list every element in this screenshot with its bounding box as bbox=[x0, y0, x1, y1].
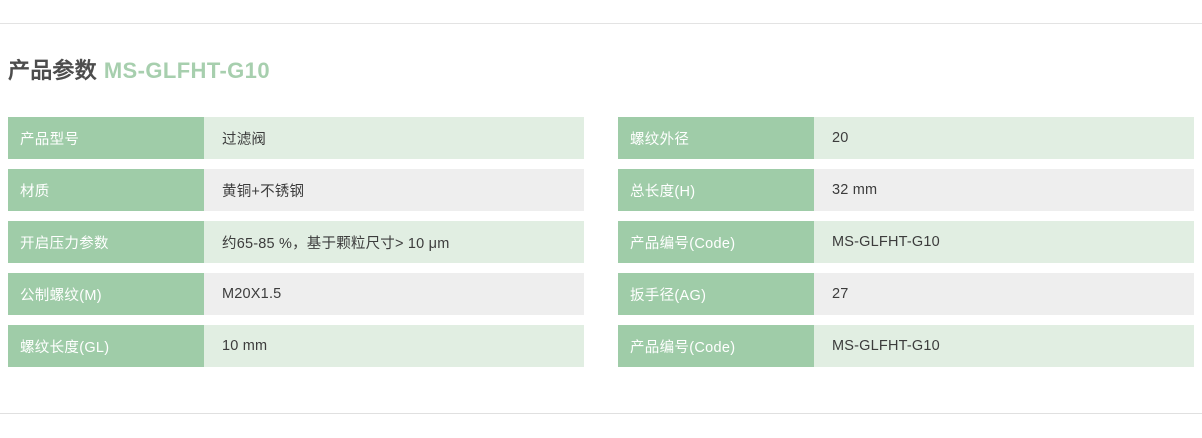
spec-value: MS-GLFHT-G10 bbox=[814, 325, 1194, 367]
bottom-divider bbox=[0, 413, 1202, 414]
table-row: 材质 黄铜+不锈钢 bbox=[8, 169, 584, 211]
spec-label: 螺纹长度(GL) bbox=[8, 325, 204, 367]
spec-value: M20X1.5 bbox=[204, 273, 584, 315]
table-row: 螺纹外径 20 bbox=[618, 117, 1194, 159]
spec-label: 总长度(H) bbox=[618, 169, 814, 211]
spec-value: 10 mm bbox=[204, 325, 584, 367]
page-title-text: 产品参数 bbox=[8, 58, 97, 83]
spec-label: 产品编号(Code) bbox=[618, 325, 814, 367]
spec-label: 扳手径(AG) bbox=[618, 273, 814, 315]
table-row: 扳手径(AG) 27 bbox=[618, 273, 1194, 315]
page-title-code: MS-GLFHT-G10 bbox=[104, 58, 270, 83]
spec-value: 过滤阀 bbox=[204, 117, 584, 159]
spec-value: 20 bbox=[814, 117, 1194, 159]
spec-label: 螺纹外径 bbox=[618, 117, 814, 159]
page-title: 产品参数MS-GLFHT-G10 bbox=[8, 57, 270, 85]
spec-value: 黄铜+不锈钢 bbox=[204, 169, 584, 211]
table-row: 螺纹长度(GL) 10 mm bbox=[8, 325, 584, 367]
spec-table-right: 螺纹外径 20 总长度(H) 32 mm 产品编号(Code) MS-GLFHT… bbox=[618, 117, 1194, 367]
spec-value: 27 bbox=[814, 273, 1194, 315]
spec-table-left: 产品型号 过滤阀 材质 黄铜+不锈钢 开启压力参数 约65-85 %，基于颗粒尺… bbox=[8, 117, 584, 367]
table-row: 开启压力参数 约65-85 %，基于颗粒尺寸> 10 μm bbox=[8, 221, 584, 263]
spec-value: 32 mm bbox=[814, 169, 1194, 211]
spec-label: 产品编号(Code) bbox=[618, 221, 814, 263]
table-row: 总长度(H) 32 mm bbox=[618, 169, 1194, 211]
spec-label: 公制螺纹(M) bbox=[8, 273, 204, 315]
spec-label: 开启压力参数 bbox=[8, 221, 204, 263]
table-row: 产品型号 过滤阀 bbox=[8, 117, 584, 159]
spec-value: 约65-85 %，基于颗粒尺寸> 10 μm bbox=[204, 221, 584, 263]
spec-value: MS-GLFHT-G10 bbox=[814, 221, 1194, 263]
table-row: 产品编号(Code) MS-GLFHT-G10 bbox=[618, 325, 1194, 367]
product-spec-page: 产品参数MS-GLFHT-G10 产品型号 过滤阀 材质 黄铜+不锈钢 开启压力… bbox=[0, 0, 1202, 438]
table-row: 产品编号(Code) MS-GLFHT-G10 bbox=[618, 221, 1194, 263]
top-divider bbox=[0, 23, 1202, 24]
spec-label: 材质 bbox=[8, 169, 204, 211]
spec-label: 产品型号 bbox=[8, 117, 204, 159]
spec-tables: 产品型号 过滤阀 材质 黄铜+不锈钢 开启压力参数 约65-85 %，基于颗粒尺… bbox=[8, 117, 1194, 367]
table-row: 公制螺纹(M) M20X1.5 bbox=[8, 273, 584, 315]
